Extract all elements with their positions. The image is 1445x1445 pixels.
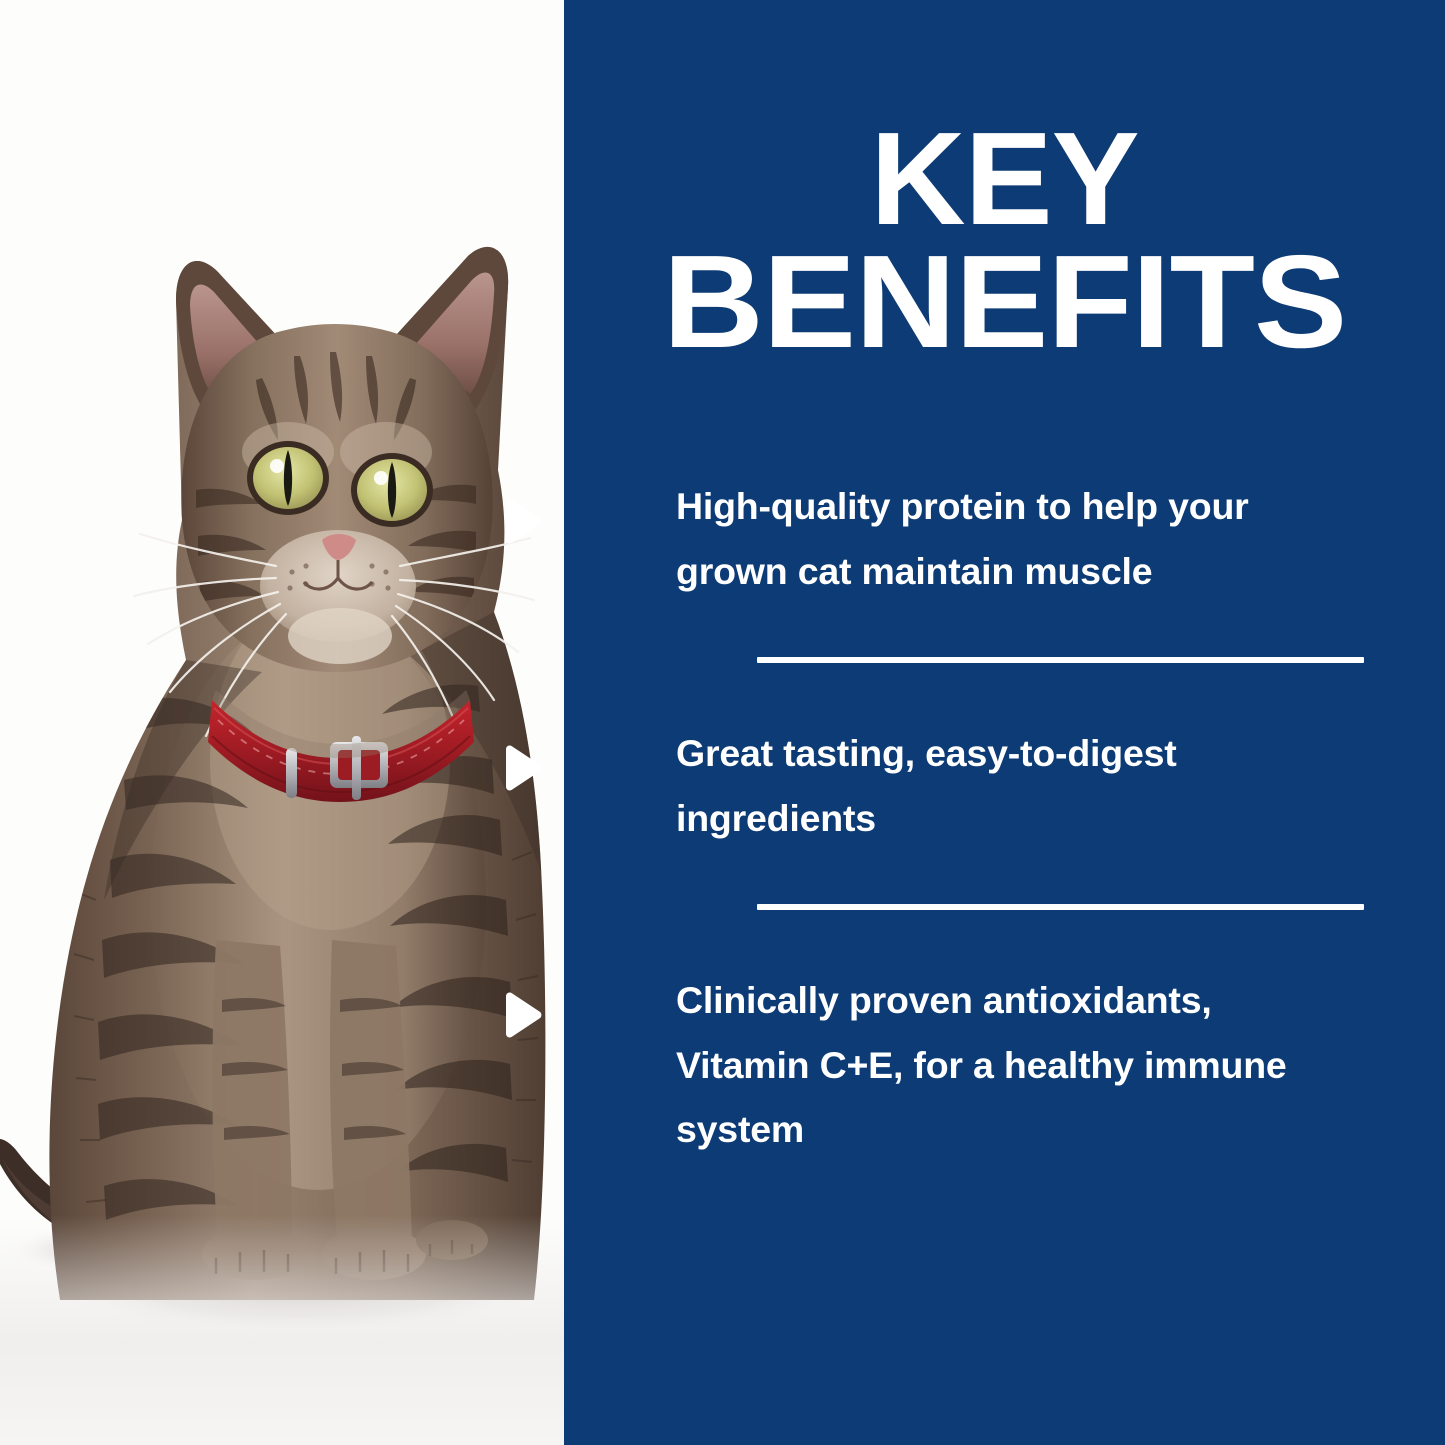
spacer xyxy=(564,910,1445,968)
title-line-benefits: BENEFITS xyxy=(538,241,1445,362)
benefit-text-digest: Great tasting, easy-to-digest ingredient… xyxy=(676,721,1316,850)
benefit-item-antioxidants: Clinically proven antioxidants, Vitamin … xyxy=(564,968,1445,1162)
benefit-item-protein: High-quality protein to help your grown … xyxy=(564,474,1445,603)
floor-shadow xyxy=(0,1215,564,1445)
triangle-bullet-icon xyxy=(500,745,544,791)
page-title: KEY BENEFITS xyxy=(564,118,1445,363)
spacer xyxy=(564,663,1445,721)
title-line-key: KEY xyxy=(564,118,1445,239)
spacer xyxy=(564,850,1445,904)
triangle-bullet-icon xyxy=(500,992,544,1038)
benefit-text-protein: High-quality protein to help your grown … xyxy=(676,474,1316,603)
triangle-bullet-icon xyxy=(500,498,544,544)
benefit-item-digest: Great tasting, easy-to-digest ingredient… xyxy=(564,721,1445,850)
benefits-panel: KEY BENEFITS High-quality protein to hel… xyxy=(564,0,1445,1445)
cat-photo-panel xyxy=(0,0,564,1445)
spacer xyxy=(564,603,1445,657)
benefit-text-antioxidants: Clinically proven antioxidants, Vitamin … xyxy=(676,968,1316,1162)
key-benefits-banner: KEY BENEFITS High-quality protein to hel… xyxy=(0,0,1445,1445)
benefit-list: High-quality protein to help your grown … xyxy=(564,474,1445,1162)
